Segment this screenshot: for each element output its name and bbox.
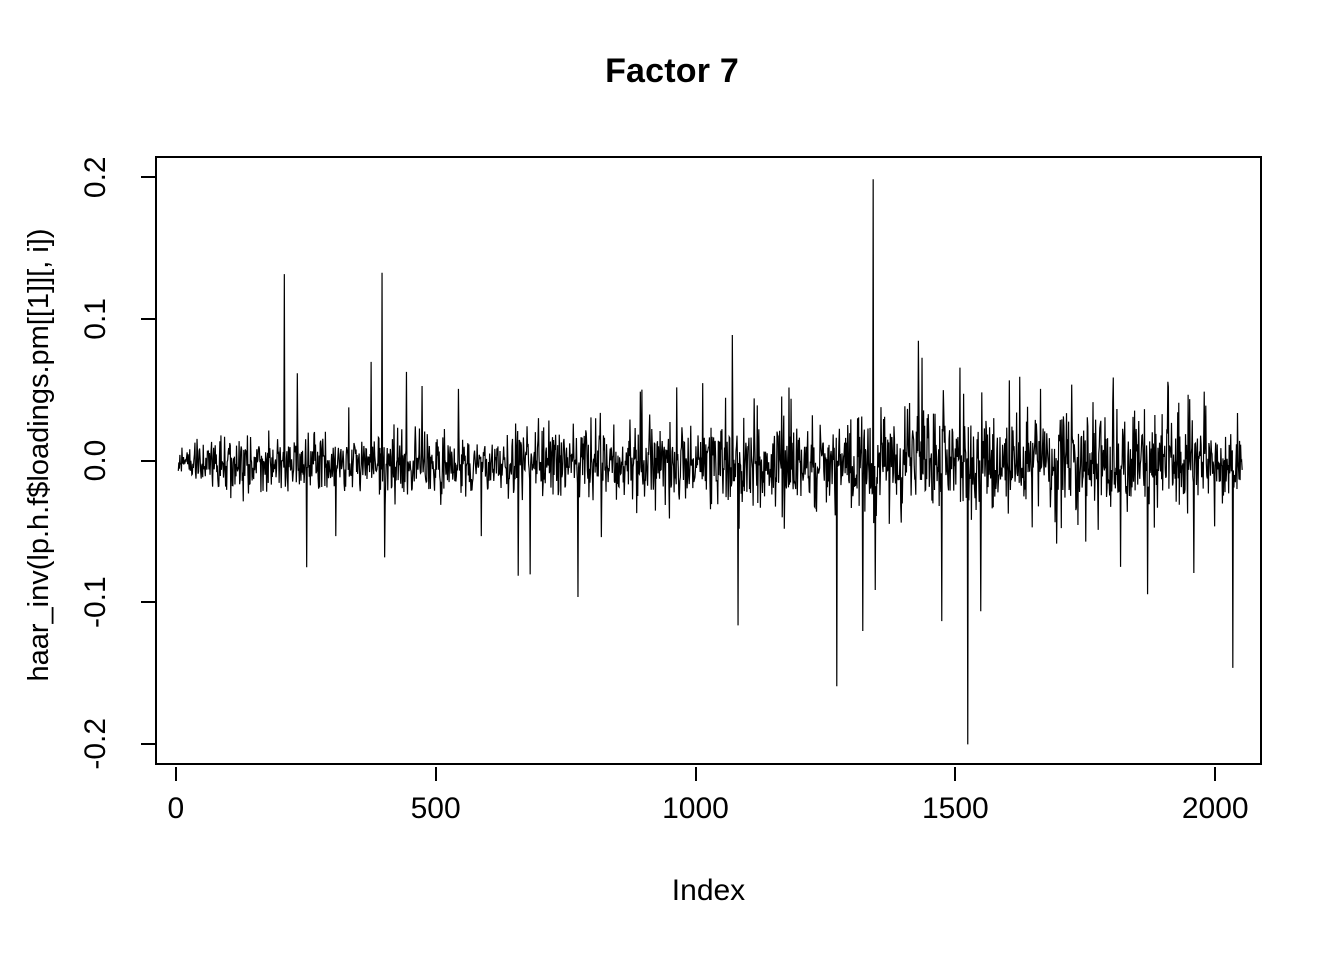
x-axis-label: Index	[155, 874, 1262, 908]
y-axis-tick-mark	[141, 743, 155, 745]
x-axis-tick-label: 1500	[885, 792, 1025, 826]
y-axis-tick-label: 0.1	[80, 259, 112, 379]
series-line-chart	[157, 158, 1264, 767]
x-axis-tick-mark	[1214, 767, 1216, 781]
series-polyline	[178, 179, 1242, 744]
y-axis-label: haar_inv(lp.h.f$loadings.pm[[1]][, i])	[16, 145, 62, 765]
x-axis-tick-mark	[695, 767, 697, 781]
x-axis-tick-mark	[175, 767, 177, 781]
y-axis-tick-mark	[141, 318, 155, 320]
y-axis-tick-mark	[141, 601, 155, 603]
r-plot-canvas: Factor 7 haar_inv(lp.h.f$loadings.pm[[1]…	[0, 0, 1344, 960]
x-axis-tick-label: 0	[106, 792, 246, 826]
y-axis-tick-mark	[141, 176, 155, 178]
y-axis-tick-label: 0.0	[80, 401, 112, 521]
x-axis-tick-label: 500	[366, 792, 506, 826]
plot-title: Factor 7	[0, 52, 1344, 91]
y-axis-tick-label: -0.2	[80, 684, 112, 804]
plot-frame	[155, 156, 1262, 765]
y-axis-tick-label: -0.1	[80, 542, 112, 662]
x-axis-tick-mark	[954, 767, 956, 781]
x-axis-tick-label: 2000	[1145, 792, 1285, 826]
x-axis-tick-label: 1000	[626, 792, 766, 826]
x-axis-tick-mark	[435, 767, 437, 781]
y-axis-tick-mark	[141, 460, 155, 462]
y-axis-tick-label: 0.2	[80, 117, 112, 237]
